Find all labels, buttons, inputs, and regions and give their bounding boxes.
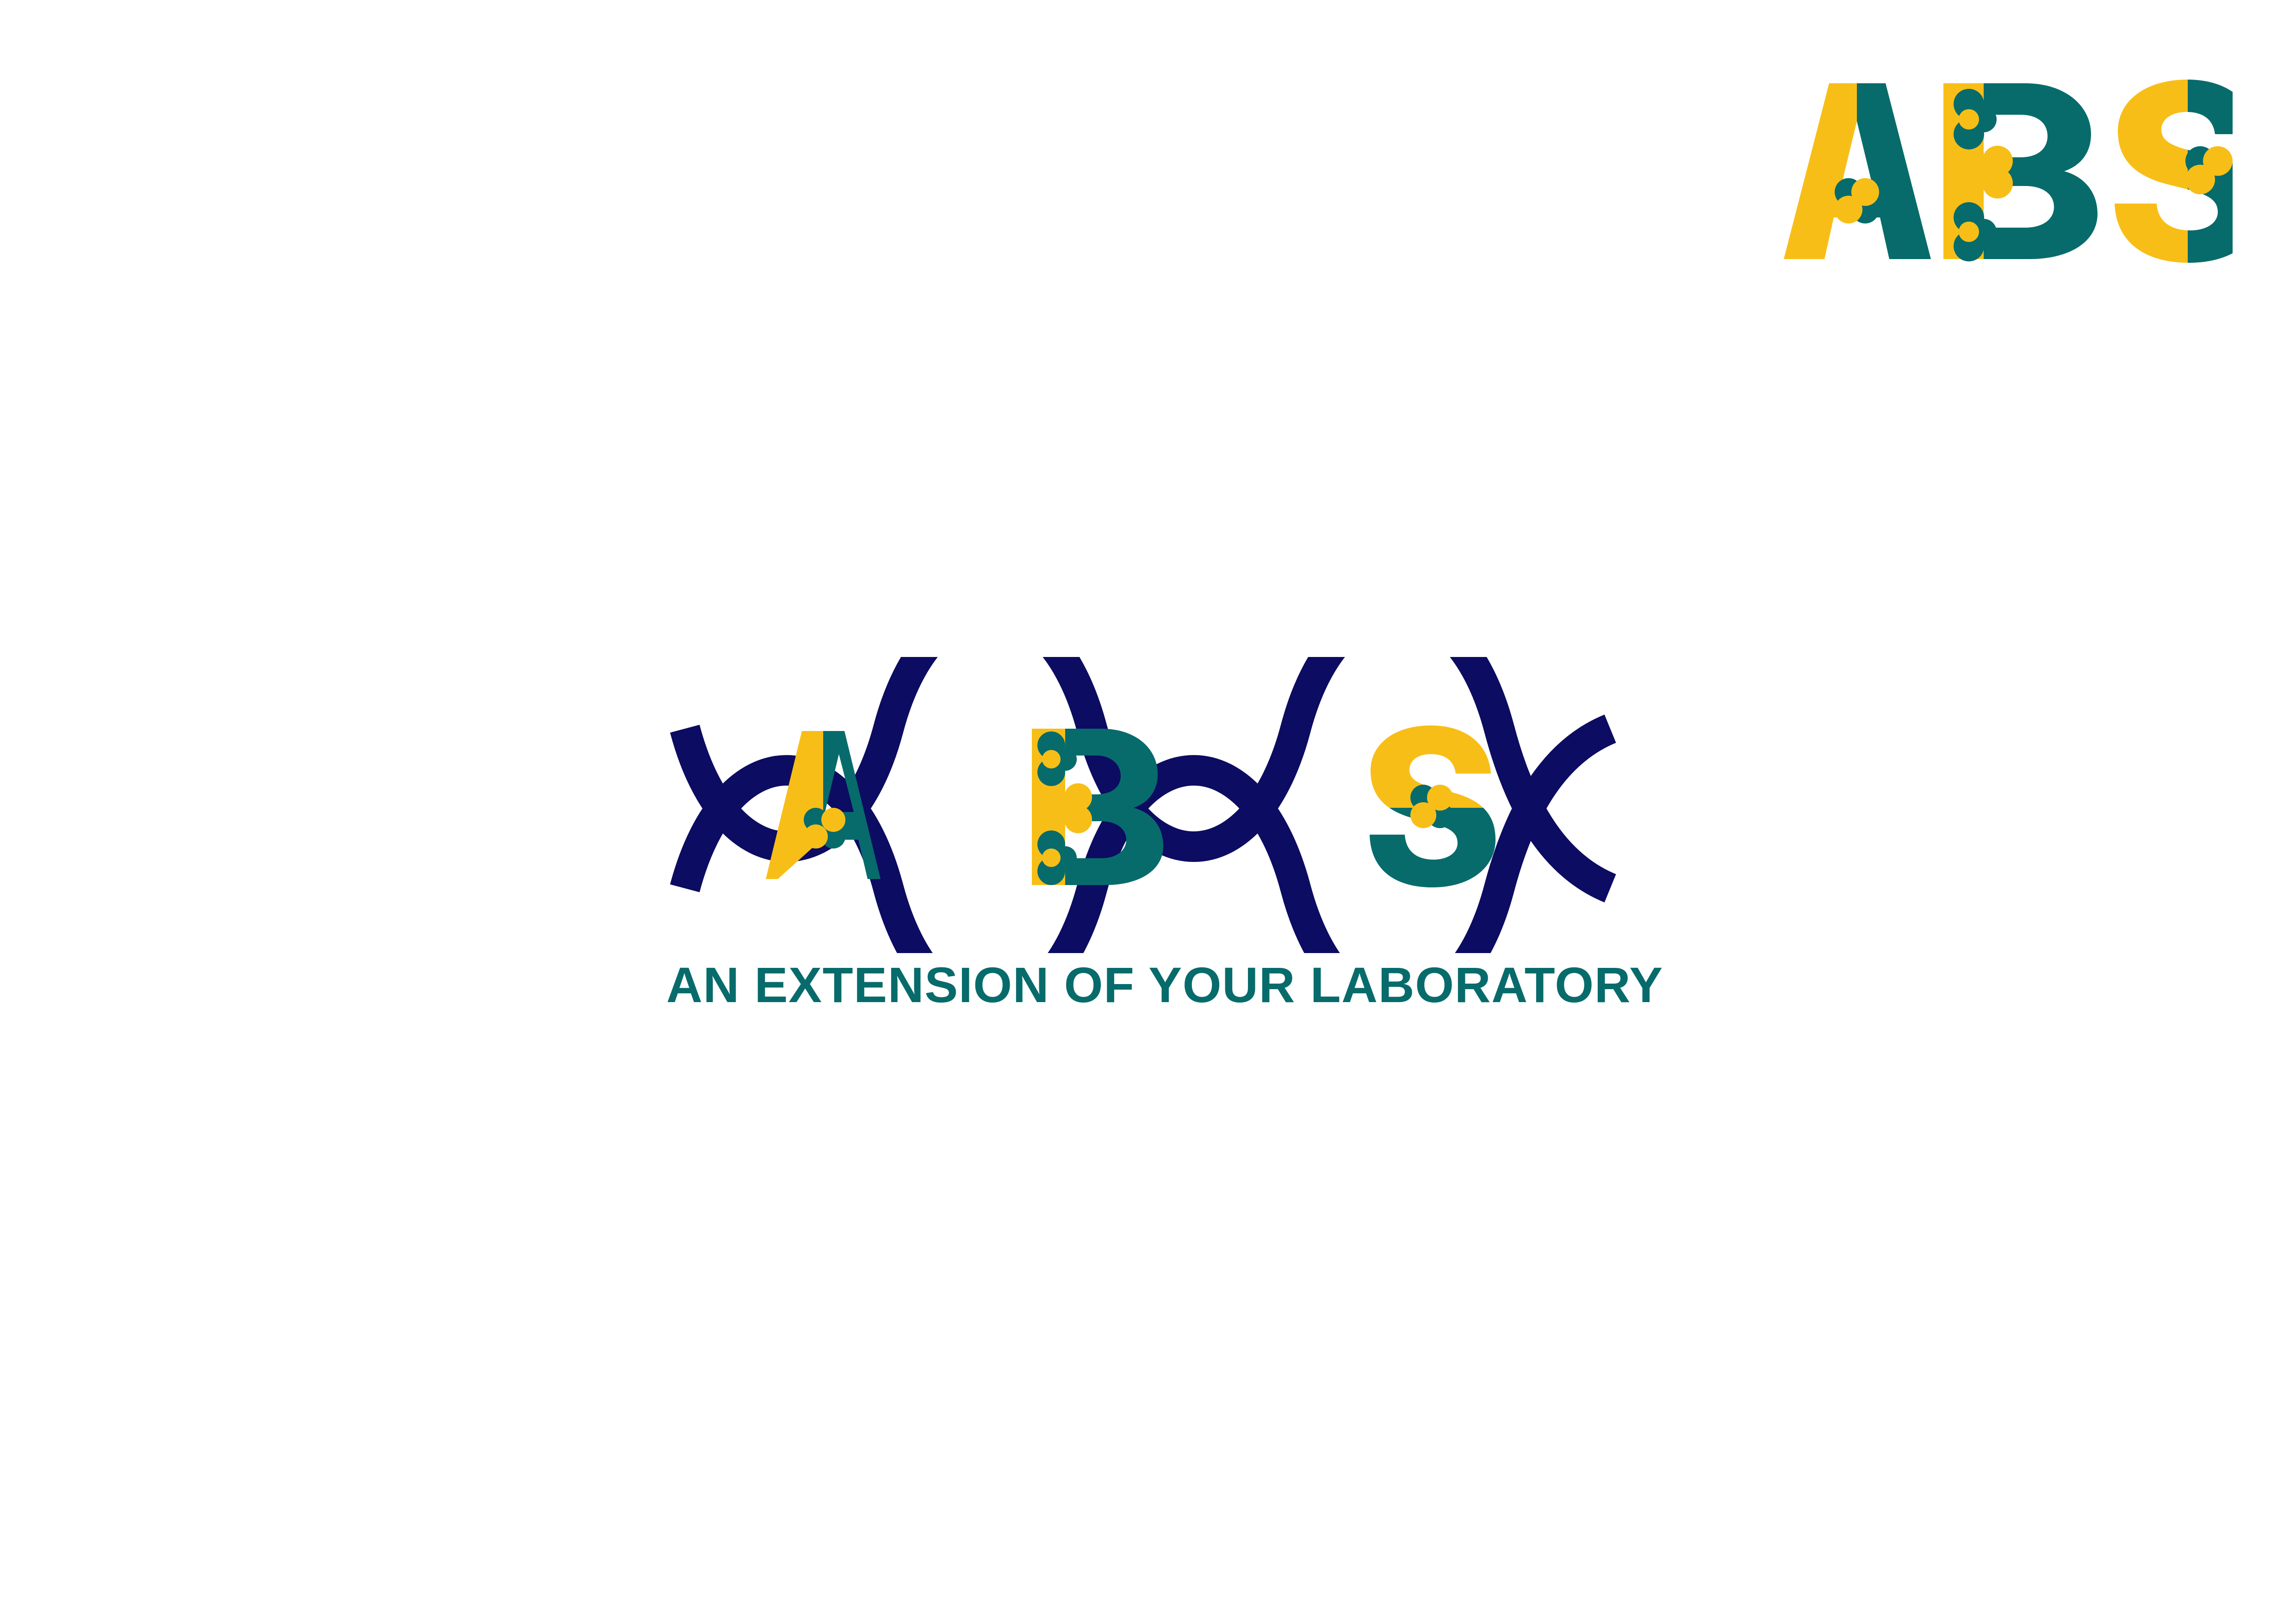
logo-tagline: AN EXTENSION OF YOUR LABORATORY (666, 960, 1638, 1010)
corner-letter-a (1784, 83, 1931, 259)
molecule-notch-icon (1835, 178, 1879, 223)
logo-letter-s (1370, 725, 1496, 887)
corner-abs-logo-mark (1770, 79, 2233, 264)
corner-abs-svg (1770, 79, 2233, 264)
corner-letter-b (1943, 83, 2097, 261)
logo-sheet-page: { "page": { "background_color": "#FFFFFF… (0, 0, 2296, 1623)
molecule-notch-icon (804, 808, 845, 849)
primary-abs-logo-lockup: AN EXTENSION OF YOUR LABORATORY (666, 657, 1638, 1041)
helix-and-letters-svg (666, 657, 1638, 953)
corner-letter-s (2115, 80, 2233, 263)
dna-helix-graphic (666, 657, 1638, 953)
molecule-notch-icon (1410, 785, 1453, 828)
molecule-notch-icon (2185, 146, 2233, 194)
